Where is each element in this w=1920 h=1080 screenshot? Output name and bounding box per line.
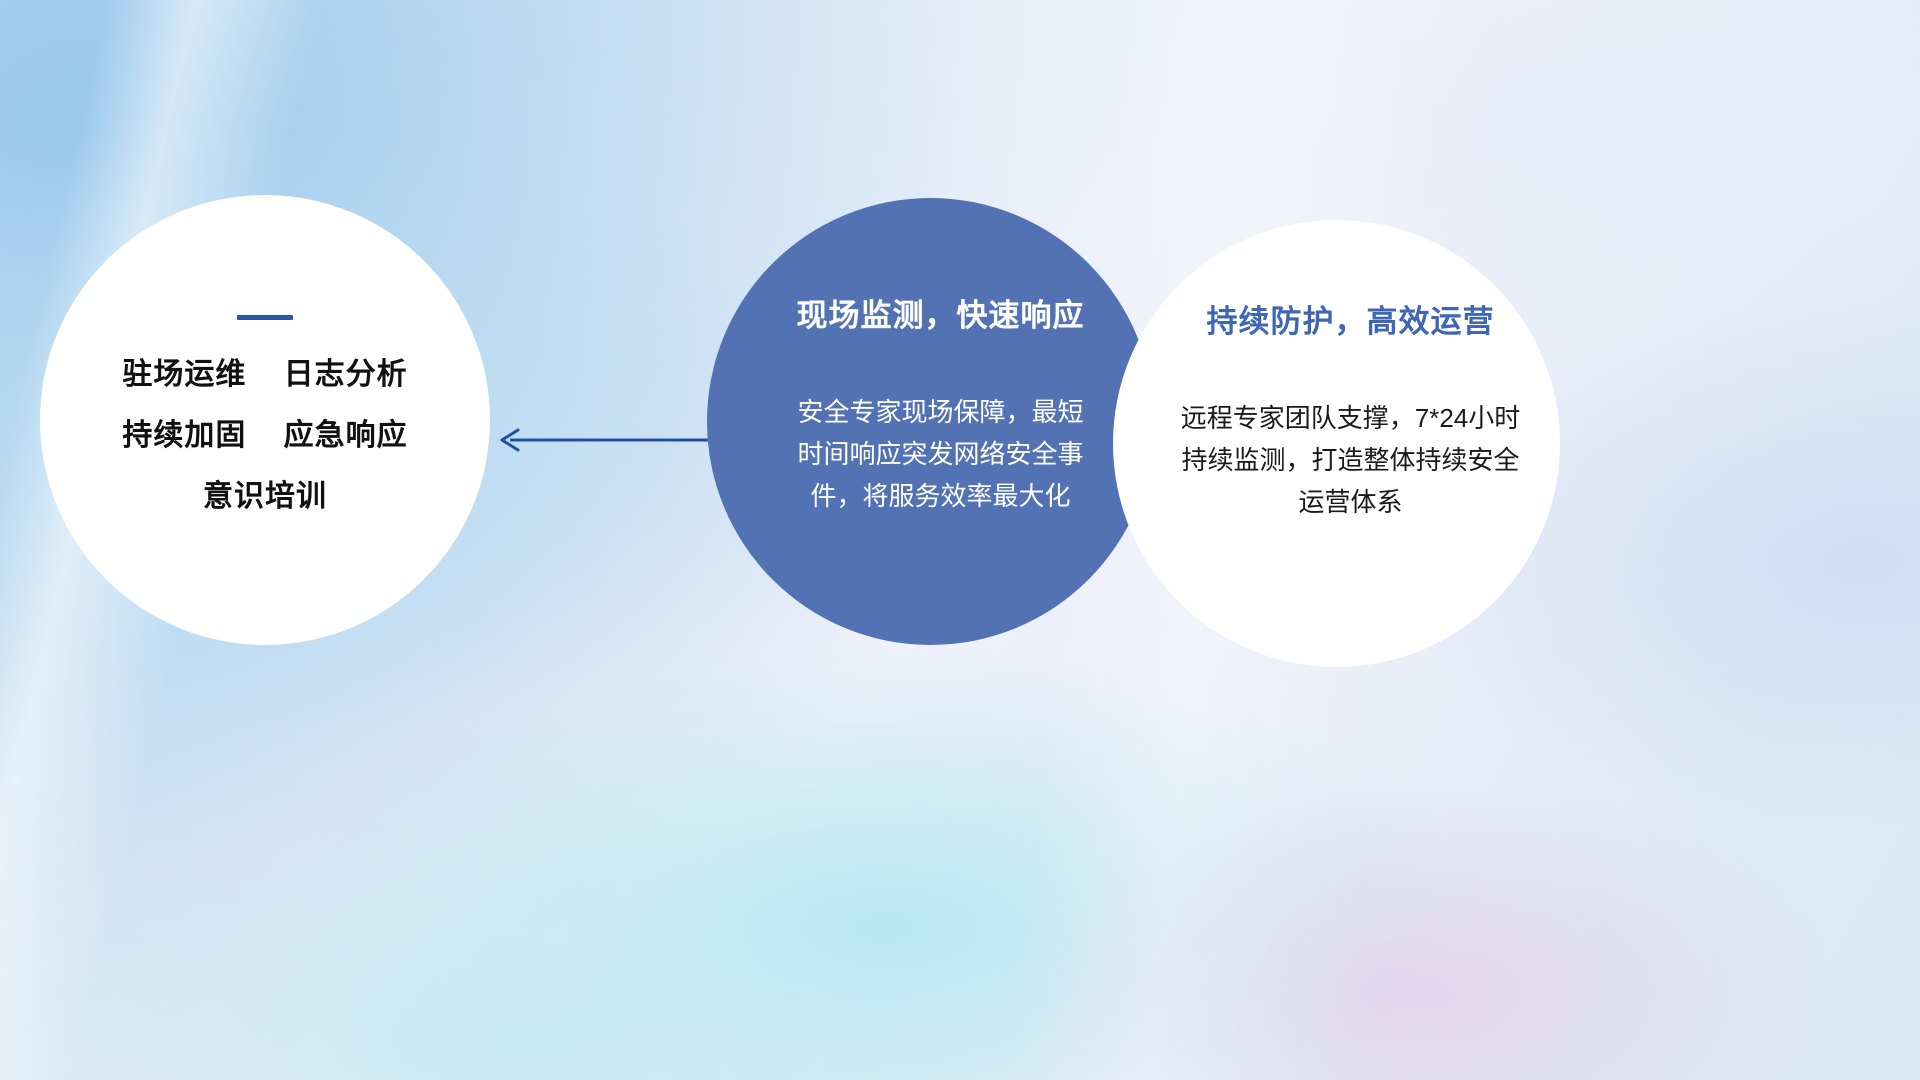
capability-line-1: 驻场运维 日志分析: [122, 360, 407, 390]
flow-arrow-right-to-left-icon: [488, 418, 728, 462]
middle-circle-onsite-monitoring[interactable]: 现场监测，快速响应 安全专家现场保障，最短时间响应突发网络安全事件，将服务效率最…: [707, 198, 1154, 645]
capability-line-3: 意识培训: [203, 482, 327, 512]
right-circle-continuous-protection[interactable]: 持续防护，高效运营 远程专家团队支撑，7*24小时持续监测，打造整体持续安全运营…: [1113, 220, 1560, 667]
right-circle-title: 持续防护，高效运营: [1207, 296, 1495, 341]
left-circle-service-capabilities[interactable]: 驻场运维 日志分析 持续加固 应急响应 意识培训: [40, 195, 490, 645]
accent-divider: [237, 315, 293, 320]
right-circle-body: 远程专家团队支撑，7*24小时持续监测，打造整体持续安全运营体系: [1178, 397, 1524, 523]
slide-canvas: 驻场运维 日志分析 持续加固 应急响应 意识培训 现场监测，快速响应 安全专家现…: [0, 0, 1920, 1080]
capability-line-2: 持续加固 应急响应: [122, 421, 407, 451]
middle-circle-title: 现场监测，快速响应: [797, 290, 1085, 335]
middle-circle-body: 安全专家现场保障，最短时间响应突发网络安全事件，将服务效率最大化: [791, 391, 1091, 517]
